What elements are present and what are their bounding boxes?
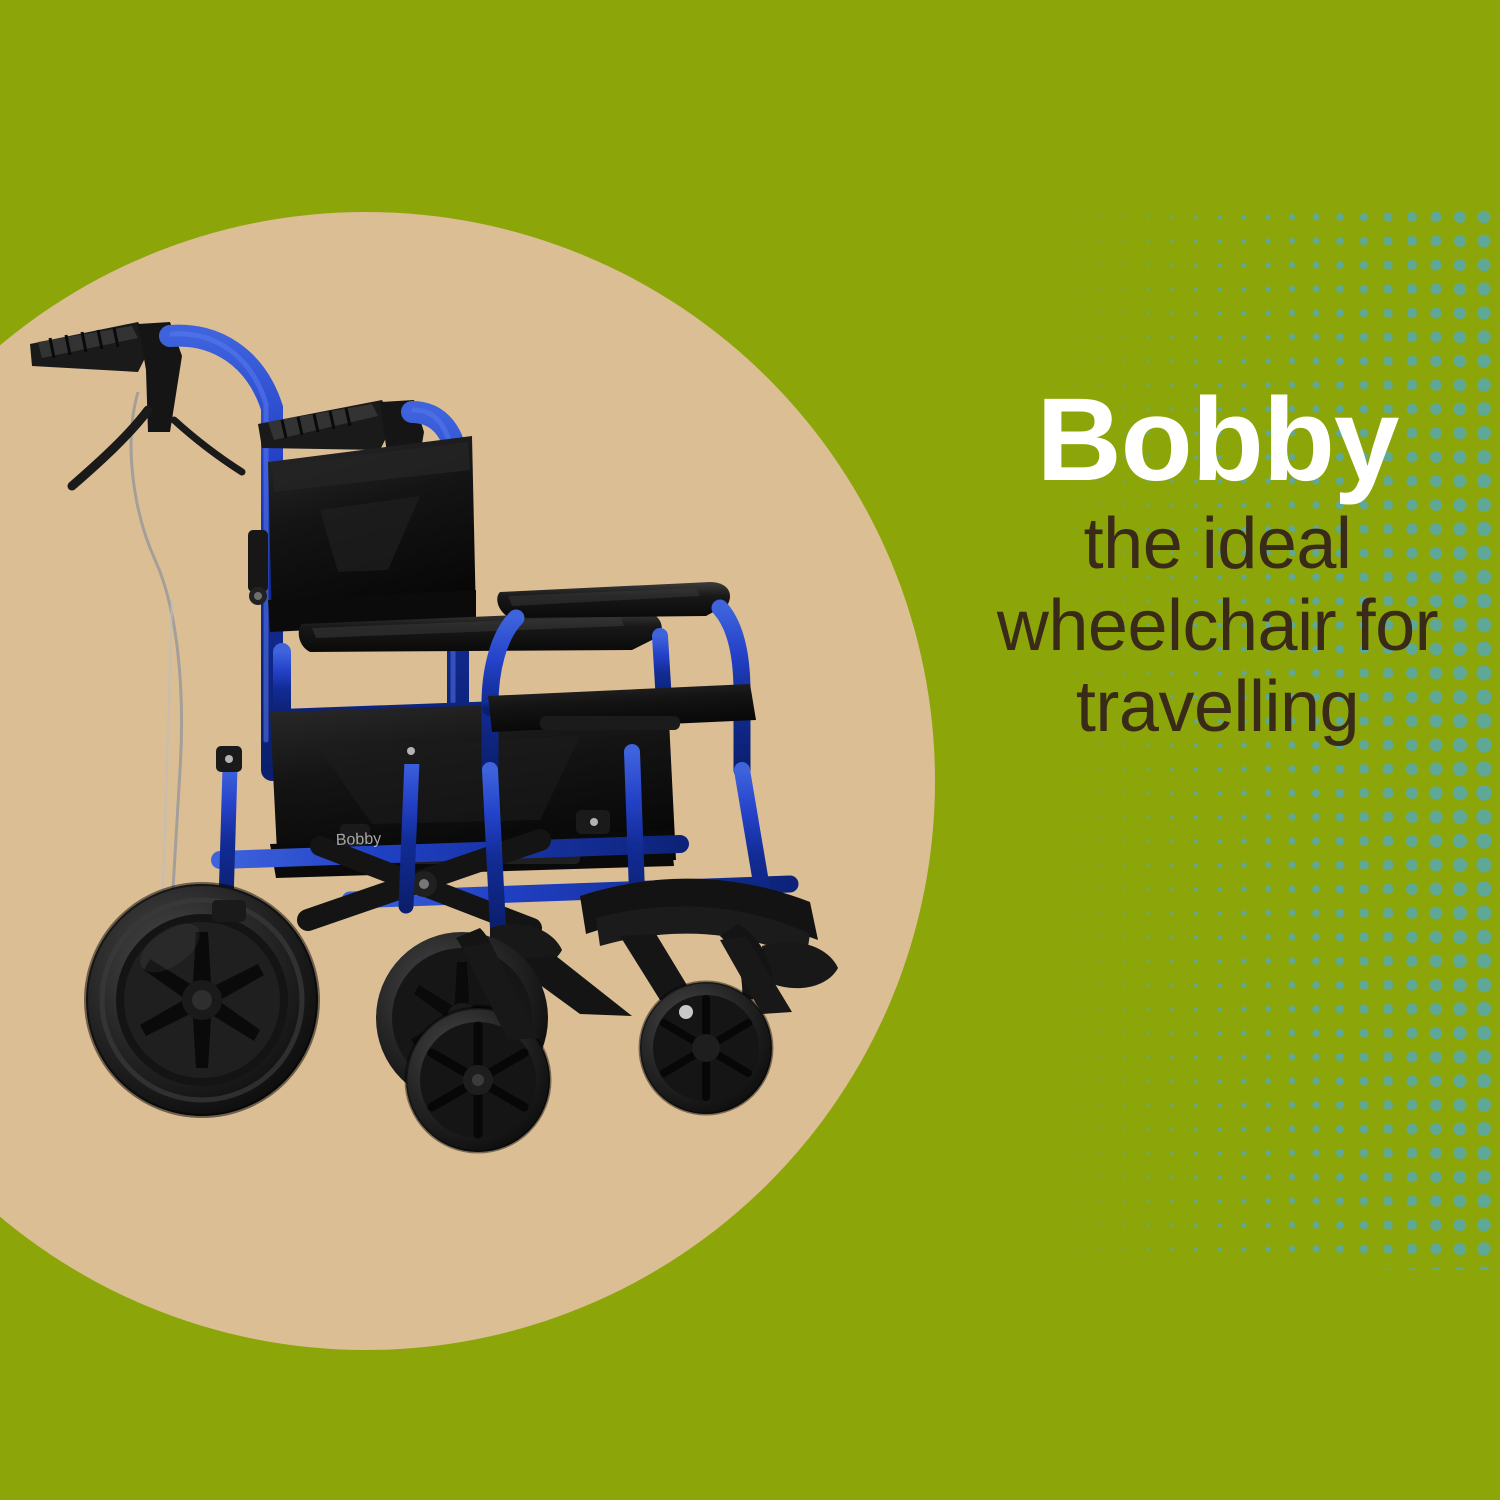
poster-canvas: Bobby Bobby the ideal wheelchair for tra… [0, 0, 1500, 1500]
rear-axle-post-2 [406, 760, 412, 906]
subline-line-3: travelling [930, 667, 1500, 748]
text-block: Bobby the ideal wheelchair for travellin… [930, 380, 1500, 748]
seat-front [488, 684, 756, 732]
subline-line-1: the ideal [930, 504, 1500, 585]
backrest [268, 436, 476, 632]
rear-wheel-left [86, 884, 318, 1116]
brand-mark: Bobby [336, 830, 382, 849]
brake-cable [131, 392, 181, 940]
armrest-front [497, 582, 730, 618]
rear-axle-post-1 [226, 768, 230, 902]
footplate-right [762, 942, 838, 988]
subline-line-2: wheelchair for [930, 586, 1500, 667]
front-down-tube-1 [490, 770, 498, 928]
backrest-hinge [248, 530, 268, 605]
headline-bobby: Bobby [930, 380, 1500, 500]
wheelchair-product-image: Bobby [20, 300, 900, 1170]
subline: the ideal wheelchair for travelling [930, 504, 1500, 748]
